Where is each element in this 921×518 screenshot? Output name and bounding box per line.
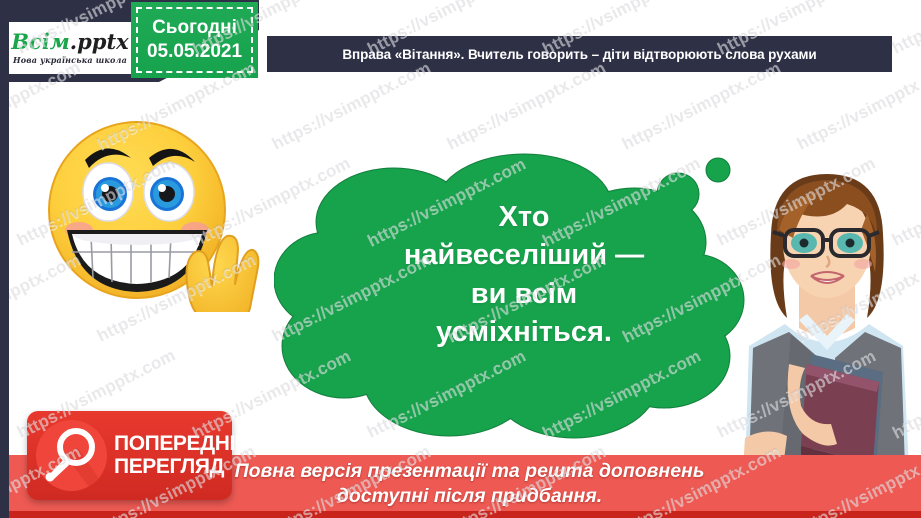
slide-canvas: Всім.pptx Нова українська школа Сьогодні…: [0, 0, 921, 518]
preview-badge-labels: ПОПЕРЕДНІЙ ПЕРЕГЛЯД: [114, 433, 250, 478]
banner-line-2: доступні після придбання.: [235, 484, 705, 509]
purchase-notice-text: Повна версія презентації та решта доповн…: [235, 459, 705, 509]
date-badge-value: 05.05.2021: [147, 40, 242, 64]
preview-badge[interactable]: ПОПЕРЕДНІЙ ПЕРЕГЛЯД: [27, 411, 232, 500]
logo-suffix: .pptx: [70, 29, 129, 54]
bubble-line-1: Хто: [374, 198, 674, 236]
site-logo: Всім.pptx Нова українська школа: [9, 22, 131, 74]
preview-badge-line-1: ПОПЕРЕДНІЙ: [114, 433, 250, 455]
logo-prefix: Всім: [11, 29, 69, 54]
magnifier-icon: [36, 420, 107, 491]
bubble-text: Хто найвеселіший — ви всім усміхніться.: [374, 198, 674, 351]
logo-main-text: Всім.pptx: [11, 31, 128, 52]
bubble-line-3: ви всім: [374, 275, 674, 313]
date-badge: Сьогодні 05.05.2021: [131, 2, 258, 78]
thought-bubble: Хто найвеселіший — ви всім усміхніться.: [274, 150, 749, 445]
preview-badge-line-2: ПЕРЕГЛЯД: [114, 456, 250, 478]
bubble-line-4: усміхніться.: [374, 313, 674, 351]
banner-bottom-strip: [9, 511, 921, 518]
slide-header-bar: Вправа «Вітання». Вчитель говорить – діт…: [267, 36, 892, 72]
teacher-illustration: [727, 168, 921, 468]
watermark-text: https://vsimpptx.com: [889, 0, 921, 59]
banner-line-1: Повна версія презентації та решта доповн…: [235, 459, 705, 484]
bubble-line-2: найвеселіший —: [374, 236, 674, 274]
smiley-emoji-illustration: [45, 112, 260, 312]
date-badge-label: Сьогодні: [152, 16, 237, 40]
page-title: Вправа «Вітання». Вчитель говорить – діт…: [342, 47, 816, 62]
logo-subtitle: Нова українська школа: [13, 55, 127, 65]
